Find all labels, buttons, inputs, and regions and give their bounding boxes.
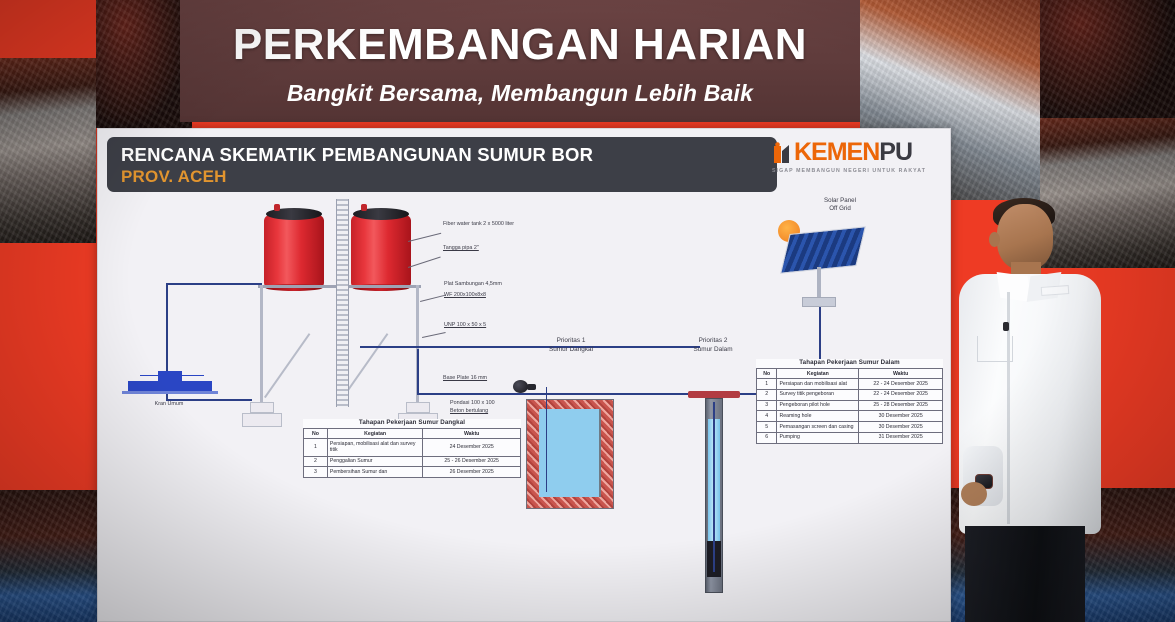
cell-kegiatan: Penggalian Sumur [327,456,422,467]
cell-kegiatan: Reaming hole [777,411,859,422]
cell-no: 2 [757,389,777,400]
presentation-slide: RENCANA SKEMATIK PEMBANGUNAN SUMUR BOR P… [97,128,951,622]
tower-footing-right-top [406,402,430,413]
deep-col-no: No [757,369,777,379]
public-tap-label: Kran Umum [134,401,204,408]
callout-priority-1: Prioritas 1 Sumur Dangkal [528,337,614,354]
table-header-row: No Kegiatan Waktu [757,369,943,379]
backdrop-photo-dark-upper [96,0,192,128]
table-row: 2 Penggalian Sumur 25 - 26 Desember 2025 [304,456,521,467]
cell-no: 6 [757,432,777,443]
deep-well-cap [688,391,740,398]
presenter-trousers [965,526,1085,622]
logo-tagline: SIGAP MEMBANGUN NEGERI UNTUK RAKYAT [772,168,940,174]
cell-no: 3 [304,467,328,478]
cell-waktu: 25 - 26 Desember 2025 [423,456,521,467]
solar-panel-base [802,297,836,307]
fiber-water-tank-2 [351,215,411,287]
fiber-water-tank-1 [264,215,324,287]
presenter-collar-left [997,272,1032,302]
table-row: 1 Persiapan dan mobilisasi alat 22 - 24 … [757,379,943,390]
callout-solar-panel: Solar Panel Off Grid [798,197,882,214]
table-row: 4 Reaming hole 30 Desember 2025 [757,411,943,422]
shallow-table-title: Tahapan Pekerjaan Sumur Dangkal [303,419,521,426]
presenter-hand [961,482,987,506]
shallow-well-pump [513,380,528,393]
page-title: PERKEMBANGAN HARIAN [180,0,860,67]
deep-well-schedule-table: Tahapan Pekerjaan Sumur Dalam No Kegiata… [756,359,943,444]
annotation-wf-spec: WF 200x100x8x8 [444,292,486,299]
cell-waktu: 30 Desember 2025 [859,422,943,433]
kemenpu-logo: KEMENPU SIGAP MEMBANGUN NEGERI UNTUK RAK… [772,140,940,184]
cell-no: 5 [757,422,777,433]
logo-text-kemen: KEMEN [794,140,879,165]
deep-col-waktu: Waktu [859,369,943,379]
annotation-foundation-1: Pondasi 100 x 100 [450,400,495,407]
cell-no: 2 [304,456,328,467]
backdrop-photo-rubble-left [0,58,96,243]
cell-kegiatan: Pemasangan screen dan casing [777,422,859,433]
annotation-tank-spec: Fiber water tank 2 x 5000 liter [443,221,514,228]
presenter-ear [989,232,1000,247]
riser-pipe [417,349,419,395]
presenter-shirt-pocket [977,336,1013,362]
cell-kegiatan: Pembersihan Sumur dan [327,467,422,478]
schematic-diagram: Kran Umum [98,197,951,622]
table-row: 6 Pumping 31 Desember 2025 [757,432,943,443]
broadcast-backdrop: PERKEMBANGAN HARIAN Bangkit Bersama, Mem… [0,0,1175,622]
table-row: 1 Persiapan, mobilisasi alat dan survey … [304,439,521,457]
deep-col-kegiatan: Kegiatan [777,369,859,379]
shallow-col-no: No [304,429,328,439]
slide-header: RENCANA SKEMATIK PEMBANGUNAN SUMUR BOR P… [107,137,777,192]
cell-waktu: 25 - 28 Desember 2025 [859,400,943,411]
logo-text-pu: PU [879,140,912,165]
cell-waktu: 30 Desember 2025 [859,411,943,422]
shallow-well-water [539,409,601,497]
presenter-figure [955,196,1105,622]
cell-kegiatan: Persiapan dan mobilisasi alat [777,379,859,390]
tower-footing-left [242,413,282,427]
supply-pipe-horizontal-top [166,283,262,285]
callout-priority-1-line1: Prioritas 1 [528,337,614,346]
deep-table: No Kegiatan Waktu 1 Persiapan dan mobili… [756,368,943,444]
table-row: 3 Pengeboran pilot hole 25 - 28 Desember… [757,400,943,411]
callout-priority-2: Prioritas 2 Sumur Dalam [670,337,756,354]
annotation-baseplate-spec: Base Plate 16 mm [443,375,487,382]
table-header-row: No Kegiatan Waktu [304,429,521,439]
logo-wordmark: KEMENPU [772,140,940,165]
cell-kegiatan: Pengeboran pilot hole [777,400,859,411]
access-ladder [336,199,349,407]
callout-solar-panel-line2: Off Grid [798,205,882,213]
leader-unp-spec [422,332,446,338]
slide-title: RENCANA SKEMATIK PEMBANGUNAN SUMUR BOR [121,143,777,166]
cell-kegiatan: Survey titik pengeboran [777,389,859,400]
callout-priority-2-line1: Prioritas 2 [670,337,756,346]
table-row: 3 Pembersihan Sumur dan 26 Desember 2025 [304,467,521,478]
cell-waktu: 31 Desember 2025 [859,432,943,443]
presenter-lapel-microphone [1003,322,1009,331]
cell-no: 1 [757,379,777,390]
cell-waktu: 24 Desember 2025 [423,439,521,457]
backdrop-photo-crowd-left [0,490,100,622]
presenter-head [997,204,1053,270]
shallow-well-suction-pipe [546,387,547,492]
callout-priority-2-line2: Sumur Dalam [670,346,756,355]
cell-kegiatan: Persiapan, mobilisasi alat dan survey ti… [327,439,422,457]
backdrop-photo-dark-right [1040,0,1175,118]
leader-ladder-spec [408,256,441,267]
cell-no: 1 [304,439,328,457]
tower-footing-left-top [250,402,274,413]
deep-well-riser-pipe [713,402,715,572]
solar-panel-post [817,267,821,299]
broadcast-title-panel: PERKEMBANGAN HARIAN Bangkit Bersama, Mem… [180,0,860,122]
shallow-well-schedule-table: Tahapan Pekerjaan Sumur Dangkal No Kegia… [303,419,521,478]
page-subtitle: Bangkit Bersama, Membangun Lebih Baik [180,67,860,107]
tower-brace-left [264,333,310,398]
cell-waktu: 22 - 24 Desember 2025 [859,389,943,400]
solar-panel-array [780,226,866,274]
shallow-table: No Kegiatan Waktu 1 Persiapan, mobilisas… [303,428,521,478]
leader-plate-spec [420,295,445,302]
shallow-well-pump-motor [527,384,536,390]
callout-priority-1-line2: Sumur Dangkal [528,346,614,355]
cell-waktu: 26 Desember 2025 [423,467,521,478]
public-tap-arm-left [140,375,162,376]
annotation-unp-spec: UNP 100 x 50 x 5 [444,322,486,329]
public-tap-arm-right [182,375,204,376]
annotation-foundation-2: Beton bertulang [450,408,488,415]
annotation-plate-spec: Plat Sambungan 4,5mm [444,281,502,288]
public-tap-slab [128,381,212,391]
shallow-col-kegiatan: Kegiatan [327,429,422,439]
callout-solar-panel-line1: Solar Panel [798,197,882,205]
cell-no: 3 [757,400,777,411]
cell-no: 4 [757,411,777,422]
kemenpu-logo-icon [772,142,792,164]
annotation-ladder-spec: Tangga pipa 2" [443,245,479,252]
deep-table-title: Tahapan Pekerjaan Sumur Dalam [756,359,943,366]
leader-tank-spec [408,233,441,242]
public-tap-base [122,391,218,394]
presenter-epaulet [1041,285,1070,296]
table-row: 2 Survey titik pengeboran 22 - 24 Desemb… [757,389,943,400]
slide-subtitle: PROV. ACEH [121,166,777,187]
cell-waktu: 22 - 24 Desember 2025 [859,379,943,390]
shallow-col-waktu: Waktu [423,429,521,439]
cell-kegiatan: Pumping [777,432,859,443]
table-row: 5 Pemasangan screen dan casing 30 Desemb… [757,422,943,433]
tower-column-left [260,285,263,403]
